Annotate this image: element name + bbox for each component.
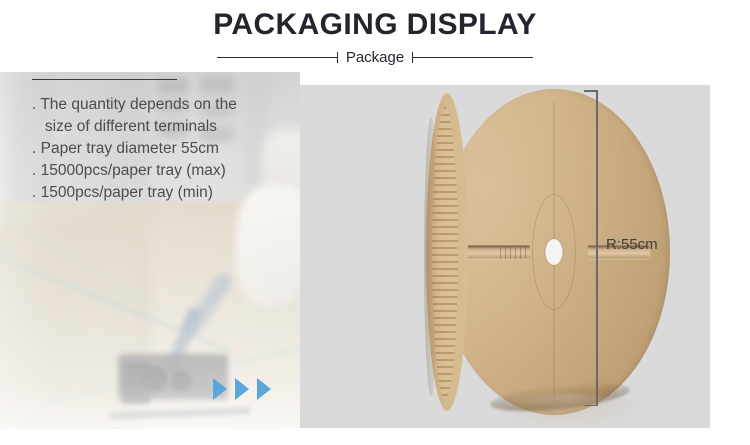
reel-center-hole (546, 239, 563, 265)
specification-item: . 1500pcs/paper tray (min) (32, 182, 312, 204)
page-title: PACKAGING DISPLAY (0, 8, 750, 42)
reel-slot-ribs (500, 246, 530, 259)
triangle-right-icon (257, 378, 271, 400)
dimension-tick-bottom (584, 405, 597, 407)
specification-item: . The quantity depends on the (32, 94, 312, 116)
dimension-annotation: R:55cm (596, 90, 716, 430)
specification-list: . The quantity depends on the size of di… (32, 94, 312, 204)
banner-header: PACKAGING DISPLAY Package (0, 0, 750, 72)
triangle-right-icon (213, 378, 227, 400)
subtitle-label: Package (338, 50, 412, 65)
bottom-margin (0, 429, 750, 445)
divider-rule-left (217, 57, 337, 58)
triangle-right-icon (235, 378, 249, 400)
specification-item: size of different terminals (32, 116, 312, 138)
specification-item: . Paper tray diameter 55cm (32, 138, 312, 160)
reel-rim-shadow (424, 117, 438, 397)
right-margin (710, 70, 750, 445)
subtitle-divider: Package (0, 46, 750, 68)
specification-underline (32, 79, 177, 80)
dimension-tick-top (584, 90, 597, 92)
packaging-display-banner: SPECIFICATION . The quantity depends on … (0, 0, 750, 445)
specification-block: SPECIFICATION . The quantity depends on … (32, 52, 312, 204)
specification-item: . 15000pcs/paper tray (max) (32, 160, 312, 182)
dimension-line (596, 90, 598, 406)
reel-slot-left (460, 246, 530, 259)
dimension-label: R:55cm (606, 236, 658, 253)
arrow-group (213, 378, 271, 400)
divider-rule-right (413, 57, 533, 58)
